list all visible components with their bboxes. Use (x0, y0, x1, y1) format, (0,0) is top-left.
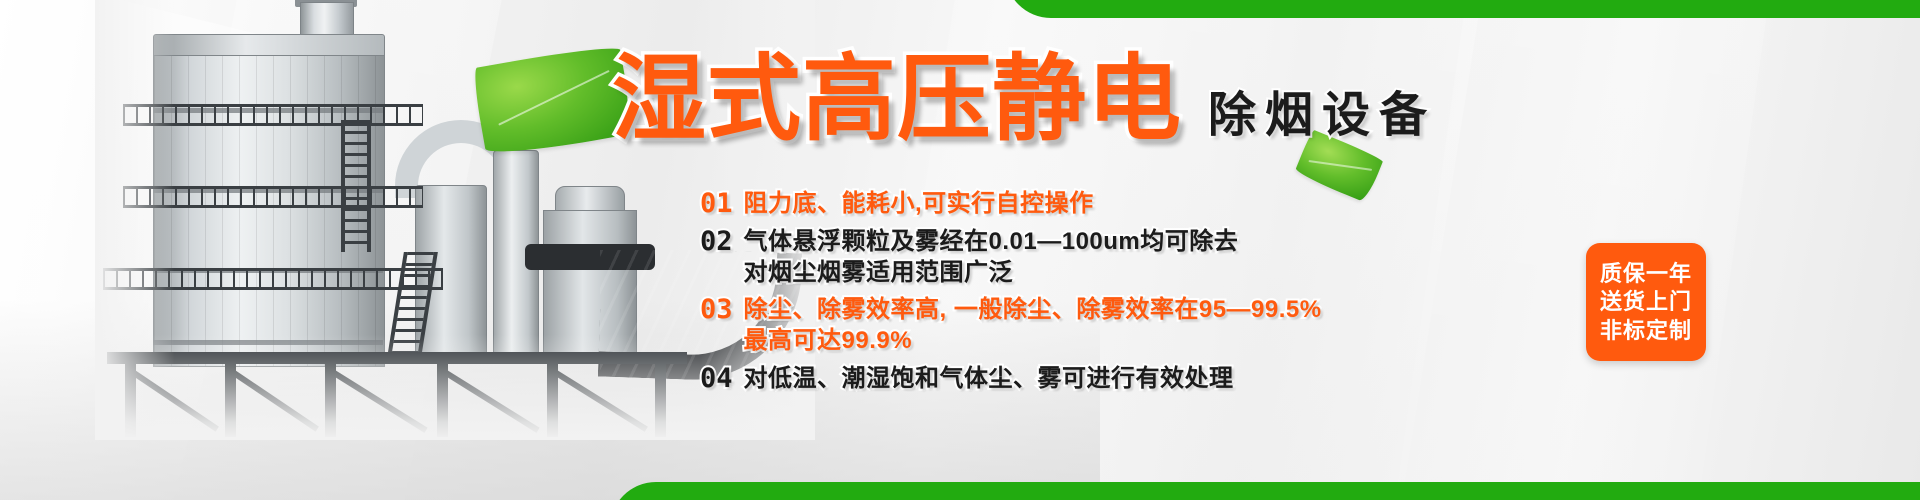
feature-item: 03 除尘、除雾效率高, 一般除尘、除雾效率在95—99.5% 最高可达99.9… (700, 294, 1320, 356)
headline-sub-text: 除烟设备 (1208, 92, 1436, 146)
feature-line-1: 对低温、潮湿饱和气体尘、雾可进行有效处理 (744, 365, 1234, 392)
feature-item: 01 阻力底、能耗小,可实行自控操作 (700, 188, 1320, 220)
feature-number: 04 (700, 363, 733, 395)
feature-item: 02 气体悬浮颗粒及雾经在0.01—100um均可除去 对烟尘烟雾适用范围广泛 (700, 226, 1320, 288)
feature-list: 01 阻力底、能耗小,可实行自控操作 02 气体悬浮颗粒及雾经在0.01—100… (700, 188, 1320, 400)
guarantee-badge: 质保一年 送货上门 非标定制 (1586, 243, 1706, 361)
headline-main-text: 湿式高压静电 (612, 52, 1182, 146)
feature-text: 阻力底、能耗小,可实行自控操作 (744, 188, 1094, 219)
feature-number: 03 (700, 294, 733, 326)
feature-number: 02 (700, 226, 733, 258)
feature-item: 04 对低温、潮湿饱和气体尘、雾可进行有效处理 (700, 363, 1320, 395)
walkway-railing (123, 104, 423, 126)
feature-number: 01 (700, 188, 733, 220)
support-legs (107, 362, 687, 437)
promo-banner: 湿式高压静电 除烟设备 01 阻力底、能耗小,可实行自控操作 02 气体悬浮颗粒… (0, 0, 1920, 500)
badge-line-delivery: 送货上门 (1600, 290, 1692, 313)
walkway-railing (123, 186, 423, 208)
headline: 湿式高压静电 除烟设备 (612, 52, 1436, 146)
feature-line-2: 最高可达99.9% (744, 325, 1322, 356)
feature-text: 对低温、潮湿饱和气体尘、雾可进行有效处理 (744, 363, 1234, 394)
walkway-railing (103, 268, 443, 290)
green-ribbon-top (1005, 0, 1920, 18)
badge-line-warranty: 质保一年 (1600, 262, 1692, 285)
feature-text: 除尘、除雾效率高, 一般除尘、除雾效率在95—99.5% 最高可达99.9% (744, 294, 1322, 356)
feature-line-2: 对烟尘烟雾适用范围广泛 (744, 257, 1239, 288)
feature-line-1: 气体悬浮颗粒及雾经在0.01—100um均可除去 (744, 228, 1239, 255)
vessel-band (153, 340, 383, 345)
feature-line-1: 阻力底、能耗小,可实行自控操作 (744, 190, 1094, 217)
badge-line-custom: 非标定制 (1600, 319, 1692, 342)
feature-text: 气体悬浮颗粒及雾经在0.01—100um均可除去 对烟尘烟雾适用范围广泛 (744, 226, 1239, 288)
feature-line-1: 除尘、除雾效率高, 一般除尘、除雾效率在95—99.5% (744, 296, 1322, 323)
green-ribbon-bottom (610, 482, 1920, 500)
